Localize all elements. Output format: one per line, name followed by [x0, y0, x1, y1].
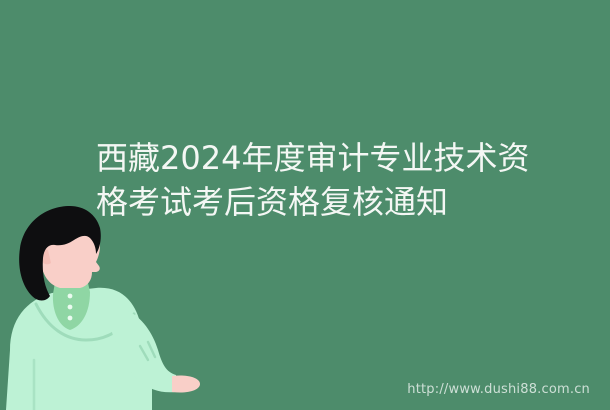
collar-button-3: [68, 316, 73, 321]
collar-button-1: [68, 294, 73, 299]
collar-button-2: [68, 305, 73, 310]
title-line-2: 格考试考后资格复核通知: [96, 180, 516, 224]
article-cover-image: 西藏2024年度审计专业技术资 格考试考后资格复核通知: [0, 0, 610, 410]
page-title: 西藏2024年度审计专业技术资 格考试考后资格复核通知: [96, 136, 516, 224]
title-line-1: 西藏2024年度审计专业技术资: [96, 136, 516, 180]
person-illustration: [0, 200, 260, 410]
source-watermark: http://www.dushi88.com.cn: [407, 382, 590, 397]
hand-shape: [172, 375, 200, 392]
